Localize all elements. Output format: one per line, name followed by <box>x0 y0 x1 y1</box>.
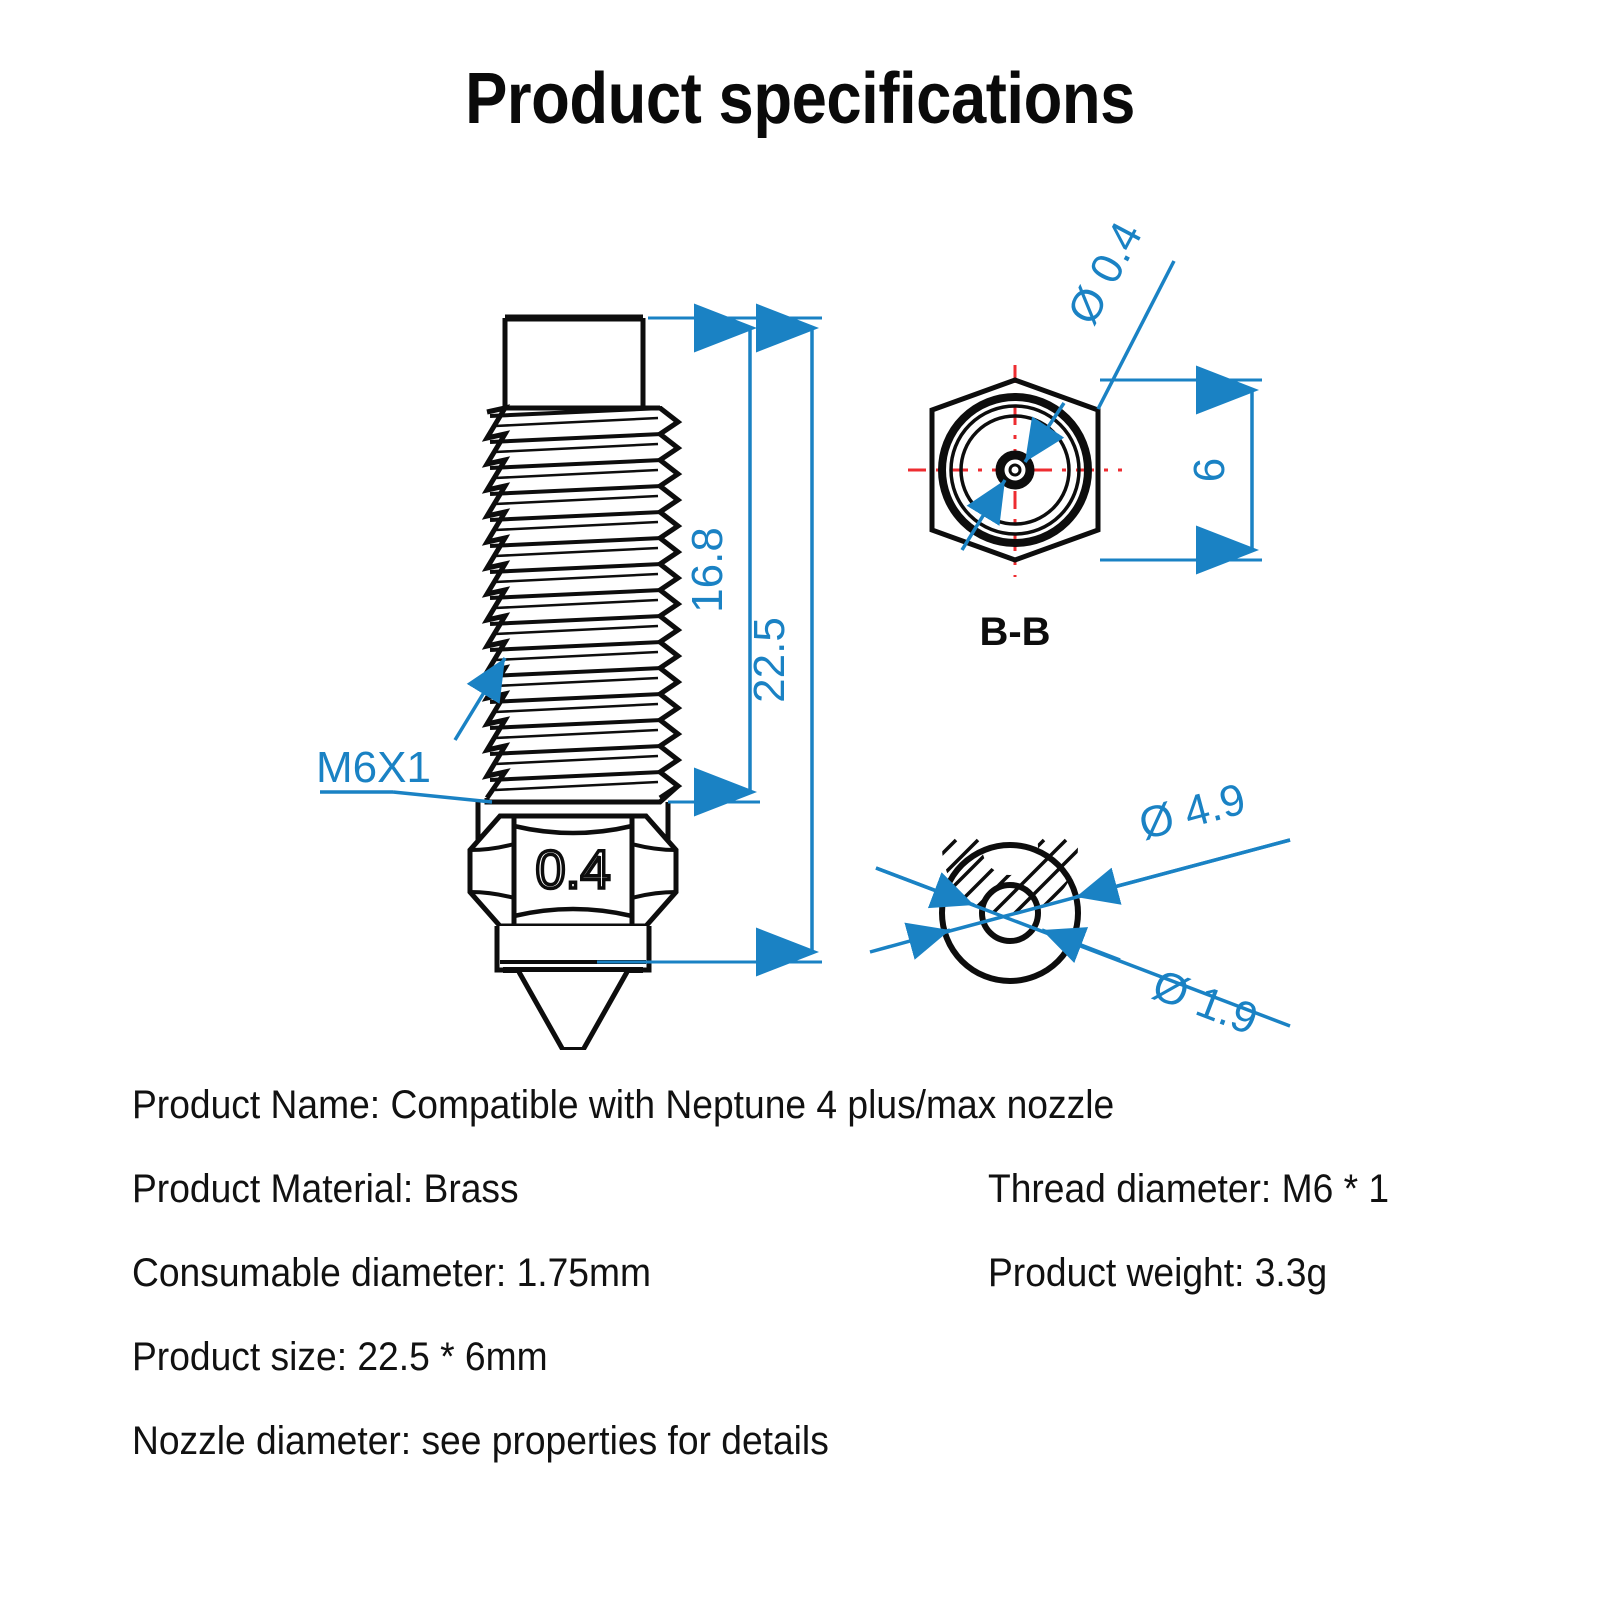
spec-row: Nozzle diameter: see properties for deta… <box>0 1416 1600 1490</box>
front-view: 0.4 <box>316 318 822 1050</box>
nozzle-size-marking: 0.4 <box>535 840 610 900</box>
spec-row: Product Name: Compatible with Neptune 4 … <box>0 1080 1600 1154</box>
spec-row: Consumable diameter: 1.75mm Product weig… <box>0 1248 1600 1322</box>
section-view-bb: B-B <box>870 610 1290 1045</box>
spec-row: Product size: 22.5 * 6mm <box>0 1332 1600 1406</box>
spec-row: Product Material: Brass Thread diameter:… <box>0 1164 1600 1238</box>
thread-callout-leader: M6X1 <box>316 658 505 802</box>
page-title: Product specifications <box>96 58 1504 140</box>
thread-callout-label: M6X1 <box>316 743 431 792</box>
spec-product-size: Product size: 22.5 * 6mm <box>132 1332 548 1382</box>
shank-cylinder <box>505 318 643 408</box>
spec-product-weight: Product weight: 3.3g <box>988 1248 1327 1298</box>
dimension-label-16-8: 16.8 <box>683 527 732 613</box>
drawing-svg: 0.4 <box>0 150 1600 1050</box>
dimension-label-22-5: 22.5 <box>745 617 794 703</box>
section-outer-circle <box>942 845 1078 981</box>
spec-thread-diameter: Thread diameter: M6 * 1 <box>988 1164 1389 1214</box>
outer-dia-leader: Ø 4.9 <box>870 774 1290 952</box>
top-view: Ø 0.4 6 <box>905 214 1262 577</box>
spec-product-name: Product Name: Compatible with Neptune 4 … <box>132 1080 1114 1130</box>
thread-section <box>487 408 678 802</box>
spec-consumable-diameter: Consumable diameter: 1.75mm <box>132 1248 651 1298</box>
outer-dia-label: Ø 4.9 <box>1134 774 1251 849</box>
bore-callout-label: Ø 0.4 <box>1058 214 1152 332</box>
section-label: B-B <box>979 610 1050 654</box>
spec-product-material: Product Material: Brass <box>132 1164 519 1214</box>
dimension-label-6: 6 <box>1185 458 1234 482</box>
bore-callout-leader: Ø 0.4 <box>962 214 1174 550</box>
dimension-6: 6 <box>1100 380 1262 560</box>
spec-nozzle-diameter: Nozzle diameter: see properties for deta… <box>132 1416 829 1466</box>
technical-drawing: 0.4 <box>0 150 1600 1050</box>
section-hatching <box>900 840 1098 986</box>
inner-dia-label: Ø 1.9 <box>1146 960 1264 1044</box>
nozzle-tip <box>519 962 627 1050</box>
product-spec-page: Product specifications <box>0 0 1600 1600</box>
specifications-list: Product Name: Compatible with Neptune 4 … <box>0 1080 1600 1540</box>
bore-hole <box>1010 465 1020 475</box>
hex-nut: 0.4 <box>470 802 676 926</box>
